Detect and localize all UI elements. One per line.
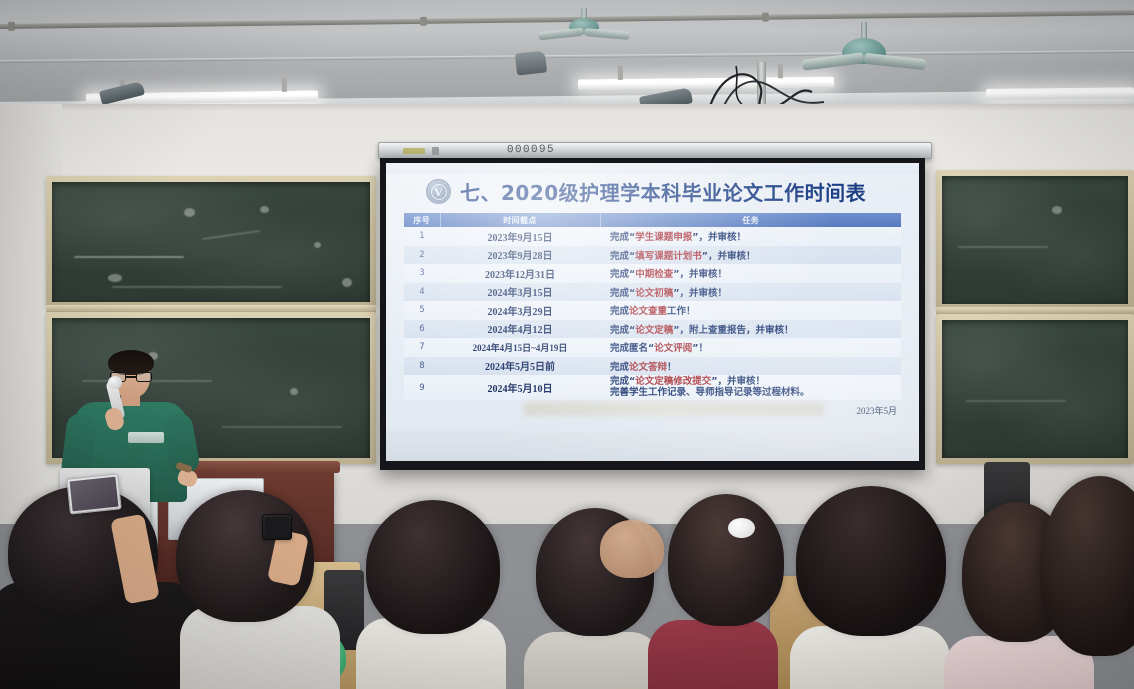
row-task: 完成匿名“论文评阅”！ [600,338,901,357]
row-date: 2024年3月29日 [440,301,600,320]
presentation-slide: V 七、2020级护理学本科毕业论文工作时间表 序号 时间截点 任务 [386,163,919,445]
table-row: 7 2024年4月15日~4月19日 完成匿名“论文评阅”！ [404,338,901,357]
row-task: 完成“论文定稿修改提交”，并审核！ 完善学生工作记录、导师指导记录等过程材料。 [600,375,901,400]
row-no: 5 [404,301,440,320]
hair-scrunchie [728,518,755,538]
table-row: 9 2024年5月10日 完成“论文定稿修改提交”，并审核！ 完善学生工作记录、… [404,375,901,400]
table-header-row: 序号 时间截点 任务 [404,213,901,227]
row-task: 完成论文答辩！ [600,357,901,376]
row-date: 2023年9月28日 [440,246,600,265]
slide-footer-date: 2023年5月 [856,404,897,417]
university-emblem-icon: V [426,179,451,204]
ceiling-fan [540,8,628,54]
row-task: 完成“中期检查”，并审核！ [600,264,901,283]
row-date: 2024年3月15日 [440,283,600,302]
row-task: 完成“论文定稿”，附上查重报告，并审核！ [600,320,901,339]
row-no: 2 [404,246,440,265]
row-no: 7 [404,338,440,357]
smartphone [66,473,121,514]
row-task: 完成“填写课题计划书”，并审核！ [600,246,901,265]
table-row: 5 2024年3月29日 完成论文查重工作！ [404,301,901,320]
screen-blank-area [386,431,919,461]
footer-decoration [524,402,824,416]
slide-title: 七、2020级护理学本科毕业论文工作时间表 [460,177,866,206]
slide-footer: 2023年5月 [404,402,901,422]
audience-head [1040,476,1134,656]
projection-screen-housing: 000095 [378,142,932,159]
row-no: 9 [404,375,440,400]
projection-screen: V 七、2020级护理学本科毕业论文工作时间表 序号 时间截点 任务 [380,158,925,470]
housing-label [403,148,425,154]
column-header-date: 时间截点 [440,213,600,227]
row-task: 完成“学生课题申报”，并审核！ [600,227,901,246]
table-row: 2 2023年9月28日 完成“填写课题计划书”，并审核！ [404,246,901,265]
table-row: 4 2024年3月15日 完成“论文初稿”，并审核！ [404,283,901,302]
housing-switch [432,147,439,155]
chalkboard-upper-right [936,170,1134,310]
row-task-line2: 完善学生工作记录、导师指导记录等过程材料。 [610,388,897,399]
row-task: 完成论文查重工作！ [600,301,901,320]
audience-body [524,632,662,689]
row-task: 完成“论文初稿”，并审核！ [600,283,901,302]
table-row: 1 2023年9月15日 完成“学生课题申报”，并审核！ [404,227,901,246]
column-header-no: 序号 [404,213,440,227]
audience-head [668,494,784,626]
fluorescent-light [986,87,1134,100]
shirt-logo [128,432,164,443]
row-no: 3 [404,264,440,283]
row-no: 4 [404,283,440,302]
wall-trim [0,104,1134,112]
microphone-head [108,376,122,389]
audience-head [600,520,664,578]
row-no: 6 [404,320,440,339]
chalkboard-lower-right [936,314,1134,464]
table-row: 6 2024年4月12日 完成“论文定稿”，附上查重报告，并审核！ [404,320,901,339]
audience-head [366,500,500,634]
slide-title-row: V 七、2020级护理学本科毕业论文工作时间表 [404,177,901,206]
row-date: 2023年12月31日 [440,264,600,283]
row-date: 2024年4月12日 [440,320,600,339]
row-no: 1 [404,227,440,246]
audience-head [796,486,946,636]
row-date: 2023年9月15日 [440,227,600,246]
classroom-photo: 000095 V 七、2020级护理学本科毕业论文工作时间表 序号 [0,0,1134,689]
row-date: 2024年5月5日前 [440,357,600,376]
audience-body [648,620,778,689]
wall-bracket [515,50,547,75]
row-no: 8 [404,357,440,376]
schedule-table-body: 1 2023年9月15日 完成“学生课题申报”，并审核！ 2 2023年9月28… [404,227,901,400]
screen-serial-number: 000095 [507,144,555,157]
schedule-table: 序号 时间截点 任务 1 2023年9月15日 完成“学生课题申报”，并审核！ … [404,213,901,400]
chalkboard-upper-left [46,176,376,308]
column-header-task: 任务 [600,213,901,227]
row-date: 2024年4月15日~4月19日 [440,338,600,357]
table-row: 3 2023年12月31日 完成“中期检查”，并审核！ [404,264,901,283]
smartphone [262,514,292,540]
table-row: 8 2024年5月5日前 完成论文答辩！ [404,357,901,376]
row-date: 2024年5月10日 [440,375,600,400]
audience [0,466,1134,689]
emblem-letter: V [434,185,443,197]
